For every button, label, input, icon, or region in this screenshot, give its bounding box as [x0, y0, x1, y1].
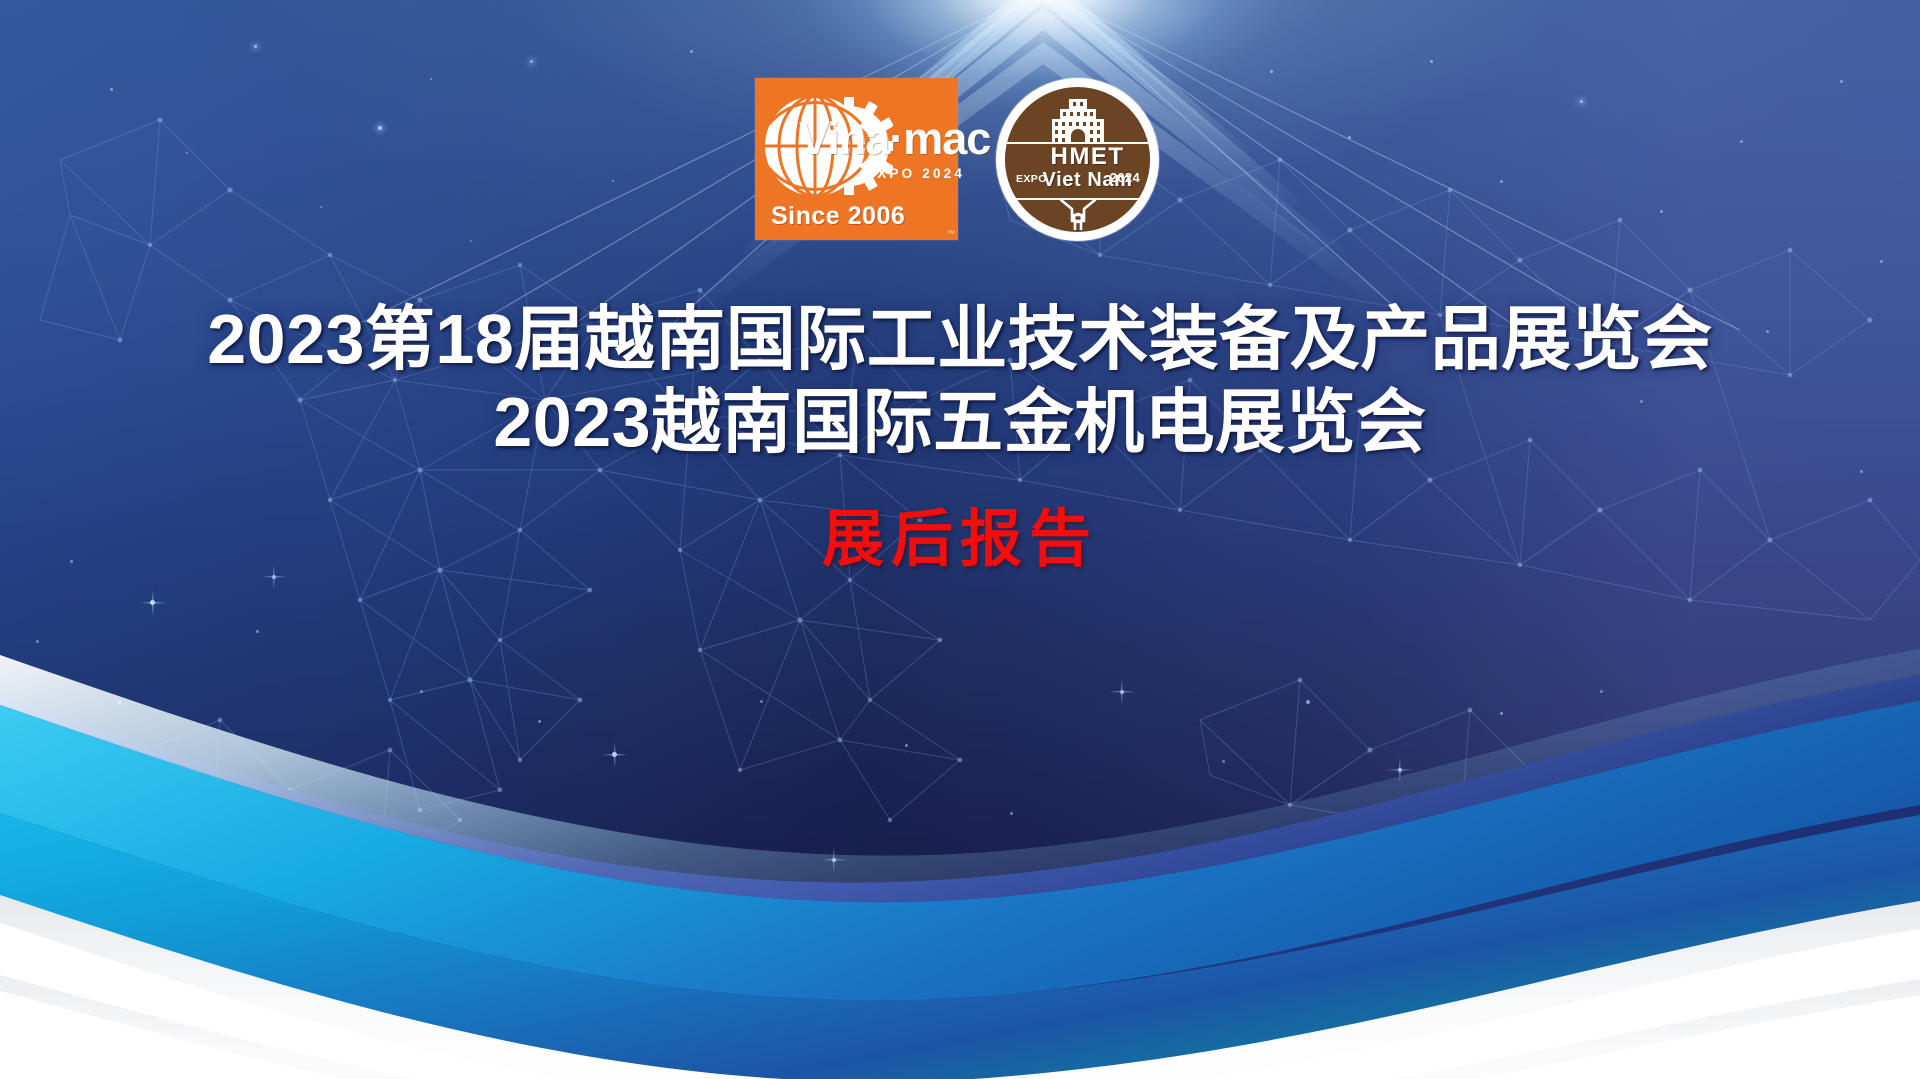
hmet-vietnam-logo[interactable]: HMET Viet Nam EXPO 2024	[996, 78, 1159, 241]
vinamac-expo-logo[interactable]: Vina·mac EXPO 2024 Since 2006 ™	[755, 78, 958, 240]
title-line-1: 2023第18届越南国际工业技术装备及产品展览会	[0, 298, 1920, 381]
title-line-2: 2023越南国际五金机电展览会	[0, 381, 1920, 464]
wordmark-dot: ·	[889, 113, 903, 164]
hmet-inner-disc: HMET Viet Nam EXPO 2024	[1005, 87, 1150, 232]
building-icon	[1047, 99, 1109, 147]
vinamac-wordmark: Vina·mac	[799, 116, 949, 161]
report-subtitle: 展后报告	[0, 509, 1920, 571]
wordmark-mac: mac	[903, 113, 990, 164]
trademark-mark: ™	[947, 229, 955, 238]
hmet-expo-label: EXPO	[1016, 173, 1047, 185]
vinamac-since-label: Since 2006	[771, 202, 905, 231]
title-block: 2023第18届越南国际工业技术装备及产品展览会 2023越南国际五金机电展览会…	[0, 298, 1920, 571]
logo-group: Vina·mac EXPO 2024 Since 2006 ™	[755, 78, 1159, 241]
hmet-year: 2024	[1110, 170, 1140, 185]
wordmark-vina: Vina	[799, 113, 889, 164]
vinamac-expo-year: EXPO 2024	[865, 166, 965, 181]
poster-slide: Vina·mac EXPO 2024 Since 2006 ™	[0, 0, 1920, 1079]
hmet-title: HMET	[1005, 145, 1150, 169]
bottom-wave-decoration	[0, 609, 1920, 1079]
